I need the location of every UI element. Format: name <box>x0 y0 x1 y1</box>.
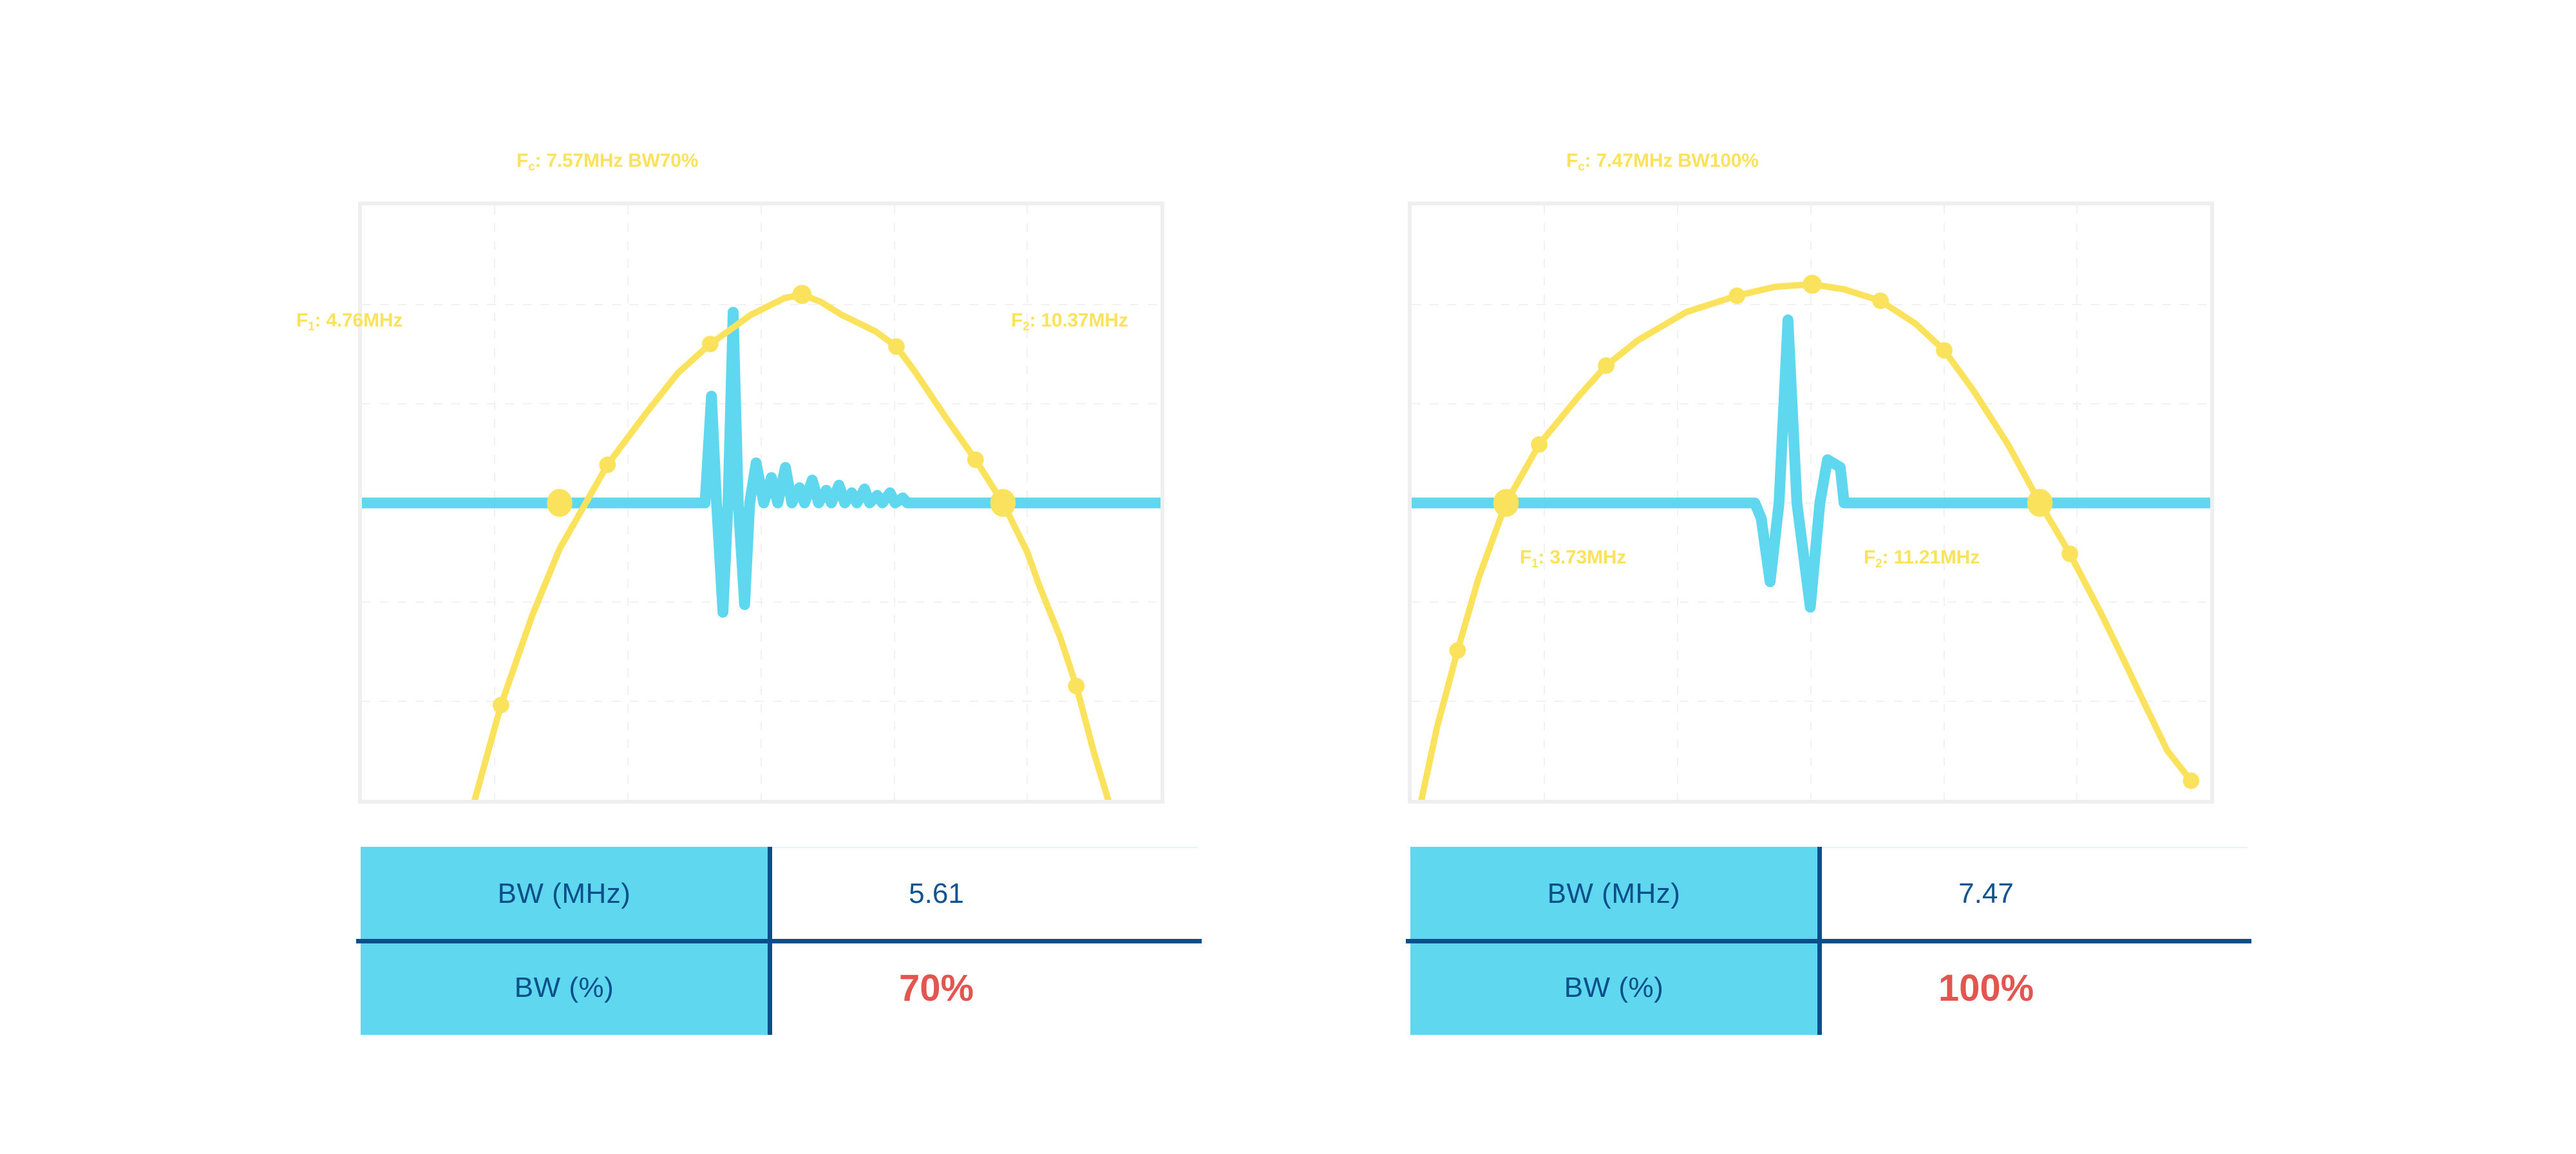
f2-text: : 11.21MHz <box>1882 547 1980 568</box>
annotation-center-frequency-right: Fc: 7.47MHz BW100% <box>1566 150 1759 175</box>
f1-text: : 4.76MHz <box>315 310 403 331</box>
fc-prefix: F <box>1566 150 1578 171</box>
chart-frame-right: Fc: 7.47MHz BW100% F1: 3.73MHz F2: 11.21… <box>1408 202 2214 804</box>
table-row-label-bw-percent: BW (%) <box>1410 941 1817 1035</box>
f1-text: : 3.73MHz <box>1539 547 1627 568</box>
bandwidth-table-right: BW (MHz) BW (%) 7.47 100% <box>1410 847 2248 1035</box>
f2-subscript: 2 <box>1023 320 1029 334</box>
chart-frame-left: Fc: 7.57MHz BW70% F1: 4.76MHz F2: 10.37M… <box>358 202 1164 804</box>
fc-text: : 7.57MHz BW70% <box>535 150 699 171</box>
fc-text: : 7.47MHz BW100% <box>1585 150 1759 171</box>
fc-subscript: c <box>528 160 535 174</box>
panel-right: Fc: 7.47MHz BW100% F1: 3.73MHz F2: 11.21… <box>1288 0 2576 1154</box>
annotation-f1-left: F1: 4.76MHz <box>296 310 402 334</box>
f2-prefix: F <box>1011 310 1023 331</box>
spectrum-pulse-plot-right <box>1412 205 2210 800</box>
f1-marker-left <box>547 489 573 516</box>
annotation-f1-right: F1: 3.73MHz <box>1520 547 1626 571</box>
f1-prefix: F <box>1520 547 1531 568</box>
spectrum-trace-left <box>470 294 1108 800</box>
f1-subscript: 1 <box>1531 557 1538 571</box>
table-row-label-bw-mhz: BW (MHz) <box>1410 847 1817 941</box>
table-row-label-bw-mhz: BW (MHz) <box>361 847 768 941</box>
table-row-label-bw-percent: BW (%) <box>361 941 768 1035</box>
panel-left: Fc: 7.57MHz BW70% F1: 4.76MHz F2: 10.37M… <box>0 0 1288 1154</box>
f2-prefix: F <box>1864 547 1875 568</box>
f1-prefix: F <box>296 310 308 331</box>
table-value-bw-mhz: 5.61 <box>772 847 1101 941</box>
f2-text: : 10.37MHz <box>1030 310 1128 331</box>
spectrum-pulse-plot-left <box>362 205 1160 800</box>
table-value-bw-percent: 70% <box>772 941 1101 1035</box>
f1-marker-right <box>1493 489 1519 516</box>
chart-plot-area-left <box>362 205 1160 800</box>
annotation-f2-right: F2: 11.21MHz <box>1864 547 1980 571</box>
fc-subscript: c <box>1578 160 1584 174</box>
f2-marker-left <box>990 489 1016 516</box>
bandwidth-table-left: BW (MHz) BW (%) 5.61 70% <box>361 847 1198 1035</box>
fc-prefix: F <box>516 150 528 171</box>
f2-subscript: 2 <box>1875 557 1882 571</box>
annotation-center-frequency-left: Fc: 7.57MHz BW70% <box>516 150 698 175</box>
f1-subscript: 1 <box>308 320 314 334</box>
spectrum-markers-right <box>1449 275 2199 790</box>
f2-marker-right <box>2027 489 2053 516</box>
annotation-f2-left: F2: 10.37MHz <box>1011 310 1128 334</box>
chart-plot-area-right <box>1412 205 2210 800</box>
table-value-bw-percent: 100% <box>1822 941 2150 1035</box>
table-value-bw-mhz: 7.47 <box>1822 847 2150 941</box>
